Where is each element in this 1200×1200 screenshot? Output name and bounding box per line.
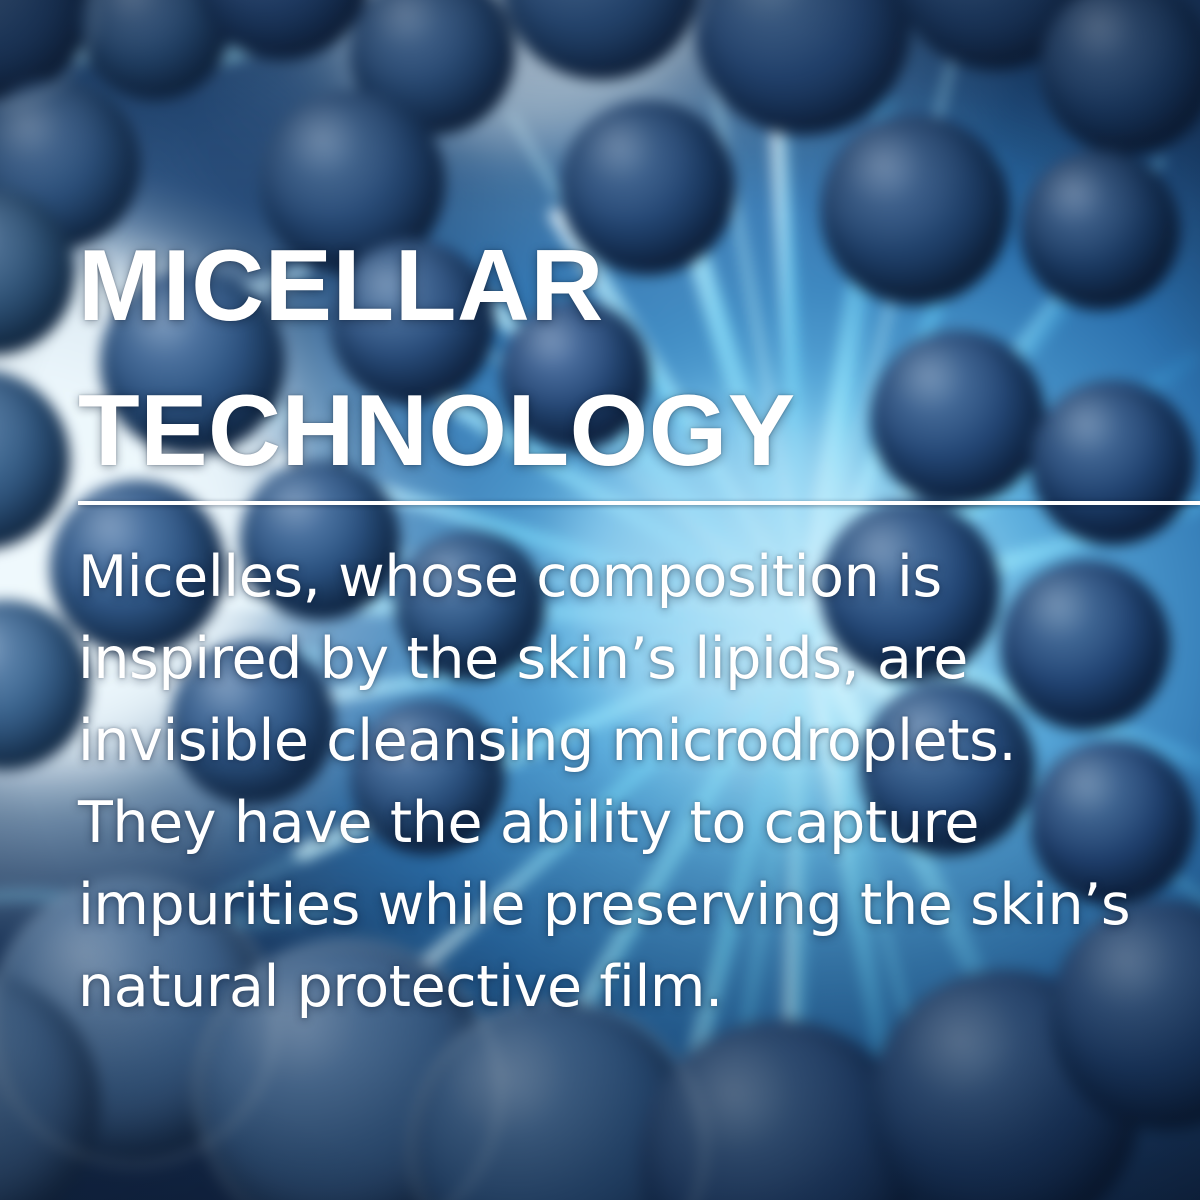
body-paragraph: Micelles, whose composition is inspired … bbox=[78, 536, 1150, 1028]
title-line-1: MICELLAR bbox=[78, 236, 1138, 337]
page-title: MICELLAR TECHNOLOGY bbox=[78, 236, 1138, 482]
micellar-technology-card: MICELLAR TECHNOLOGY Micelles, whose comp… bbox=[0, 0, 1200, 1200]
title-divider-rule bbox=[78, 501, 1200, 505]
content-container: MICELLAR TECHNOLOGY Micelles, whose comp… bbox=[78, 0, 1138, 1200]
micelle-sphere bbox=[0, 370, 70, 550]
title-line-2: TECHNOLOGY bbox=[78, 381, 1138, 482]
